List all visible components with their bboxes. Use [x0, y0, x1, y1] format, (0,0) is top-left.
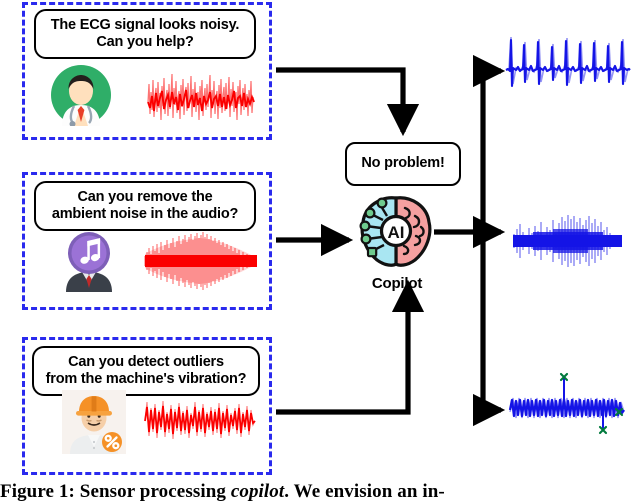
copilot-reply-text: No problem!: [361, 155, 444, 172]
bubble-audio-line2: ambient noise in the audio?: [52, 206, 238, 222]
figure-canvas: The ECG signal looks noisy. Can you help…: [0, 0, 640, 503]
speech-bubble-vibration: Can you detect outliers from the machine…: [32, 346, 260, 396]
noisy-ecg-signal: [146, 62, 258, 134]
bubble-vib-line1: Can you detect outliers: [68, 354, 224, 370]
caption-italic-term: copilot: [231, 481, 284, 502]
outlier-marked-vibration-signal: [506, 368, 634, 440]
bubble-vib-line2: from the machine's vibration?: [46, 371, 247, 387]
ai-badge-text: AI: [388, 223, 405, 242]
engineer-avatar: [62, 390, 126, 454]
bubble-audio-line1: Can you remove the: [78, 189, 213, 205]
copilot-label: Copilot: [352, 275, 442, 292]
bubble-ecg-line1: The ECG signal looks noisy.: [51, 17, 240, 33]
arrow-vibration-to-copilot: [276, 284, 408, 412]
noisy-vibration-signal: [142, 392, 260, 450]
noisy-audio-signal: [142, 228, 260, 294]
musician-avatar: [60, 228, 118, 292]
figure-caption: Figure 1: Sensor processing copilot. We …: [0, 481, 640, 503]
speech-bubble-ecg: The ECG signal looks noisy. Can you help…: [34, 9, 256, 59]
speech-bubble-audio: Can you remove the ambient noise in the …: [34, 181, 256, 231]
clean-ecg-signal: [504, 28, 632, 104]
arrow-ecg-to-reply: [276, 70, 403, 132]
clean-audio-signal: [508, 210, 632, 272]
bubble-ecg-line2: Can you help?: [96, 34, 193, 50]
doctor-avatar: [50, 64, 112, 126]
caption-prefix: Figure 1: Sensor processing: [0, 481, 231, 502]
ai-brain-icon: AI: [357, 194, 435, 270]
caption-suffix: . We envision an in-: [284, 481, 445, 502]
copilot-reply-bubble: No problem!: [345, 142, 461, 186]
